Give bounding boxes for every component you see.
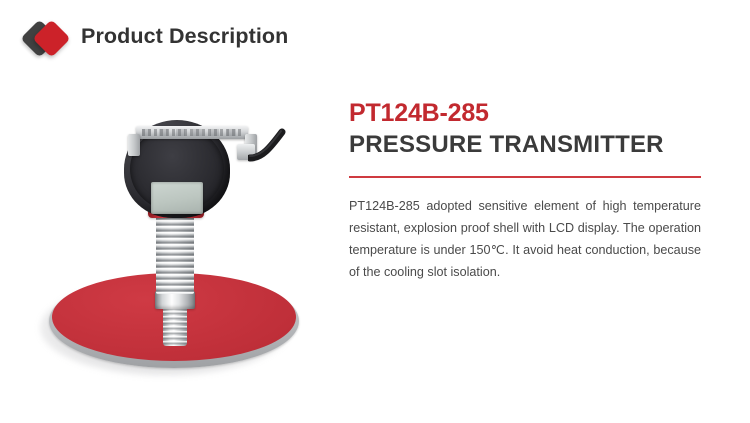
nameplate-engraving bbox=[142, 129, 244, 136]
title-divider bbox=[349, 176, 701, 178]
cable-icon bbox=[248, 124, 296, 164]
nameplate-bracket bbox=[136, 126, 248, 139]
cooling-slot-neck bbox=[156, 214, 194, 294]
page-header: Product Description bbox=[24, 14, 424, 62]
process-connection-thread bbox=[163, 306, 187, 346]
product-name: PRESSURE TRANSMITTER bbox=[349, 130, 701, 160]
product-description-text: PT124B-285 adopted sensitive element of … bbox=[349, 195, 701, 283]
lcd-display bbox=[151, 182, 203, 214]
product-code: PT124B-285 bbox=[349, 98, 701, 128]
product-description-page: Product Description PT124B-285 PRESSURE bbox=[0, 0, 750, 423]
page-title: Product Description bbox=[81, 24, 288, 49]
product-info: PT124B-285 PRESSURE TRANSMITTER PT124B-2… bbox=[349, 98, 701, 296]
double-diamond-logo bbox=[24, 18, 76, 60]
product-image bbox=[28, 58, 328, 378]
bracket-tab-left bbox=[128, 134, 140, 156]
